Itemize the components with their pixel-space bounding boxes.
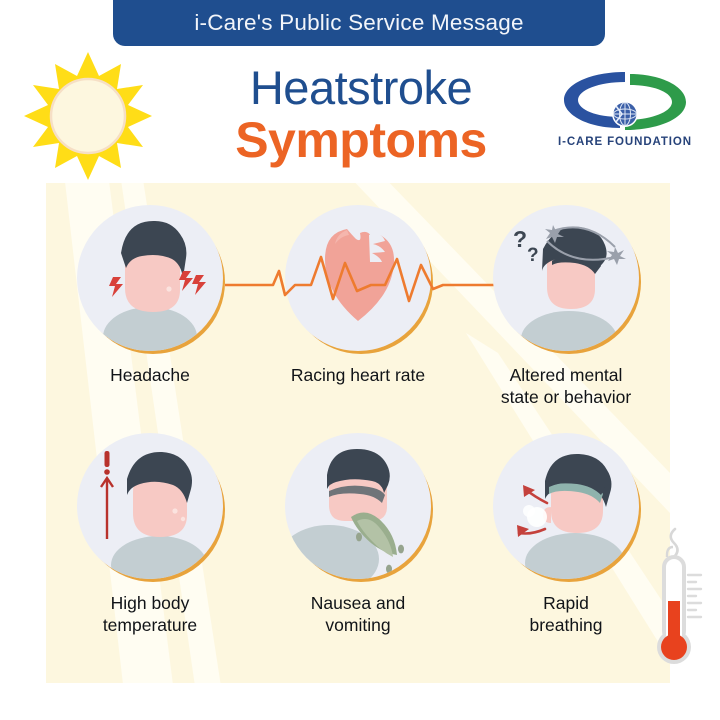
symptom-caption: Headache (46, 364, 254, 386)
svg-text:?: ? (513, 226, 527, 252)
symptom-card-nausea-vomiting[interactable]: Nausea andvomiting (254, 433, 462, 636)
infographic-root: i-Care's Public Service Message Heatstro… (0, 0, 720, 720)
brand-logo: I-CARE FOUNDATION (550, 70, 700, 165)
symptom-grid: Headache Racing heart rate (46, 183, 670, 683)
symptom-caption: Nausea andvomiting (254, 592, 462, 636)
symptom-caption: Racing heart rate (254, 364, 462, 386)
altered-mental-state-icon: ? ? (493, 205, 639, 351)
symptom-card-rapid-breathing[interactable]: Rapidbreathing (462, 433, 670, 636)
title-line-heatstroke: Heatstroke (206, 64, 516, 111)
svg-text:?: ? (527, 245, 539, 266)
page-title: Heatstroke Symptoms (206, 64, 516, 165)
banner-label: i-Care's Public Service Message (194, 10, 523, 36)
high-body-temperature-icon (77, 433, 223, 579)
symptom-caption: Rapidbreathing (462, 592, 670, 636)
sun-icon (24, 52, 152, 180)
headache-icon (77, 205, 223, 351)
public-service-banner: i-Care's Public Service Message (113, 0, 605, 46)
title-line-symptoms: Symptoms (206, 115, 516, 165)
symptom-caption: High bodytemperature (46, 592, 254, 636)
ecg-line-icon (225, 251, 495, 311)
icare-swirl-globe-logo-icon (558, 70, 692, 132)
rapid-breathing-icon (493, 433, 639, 579)
symptom-card-racing-heart-rate[interactable]: Racing heart rate (254, 205, 462, 386)
nausea-vomiting-icon (285, 433, 431, 579)
thermometer-icon (655, 525, 703, 675)
logo-wordmark: I-CARE FOUNDATION (550, 136, 700, 148)
symptom-caption: Altered mentalstate or behavior (462, 364, 670, 408)
symptom-card-altered-mental-state[interactable]: ? ? Altered mentalstate or behavior (462, 205, 670, 408)
symptom-card-headache[interactable]: Headache (46, 205, 254, 386)
symptom-card-high-body-temperature[interactable]: High bodytemperature (46, 433, 254, 636)
